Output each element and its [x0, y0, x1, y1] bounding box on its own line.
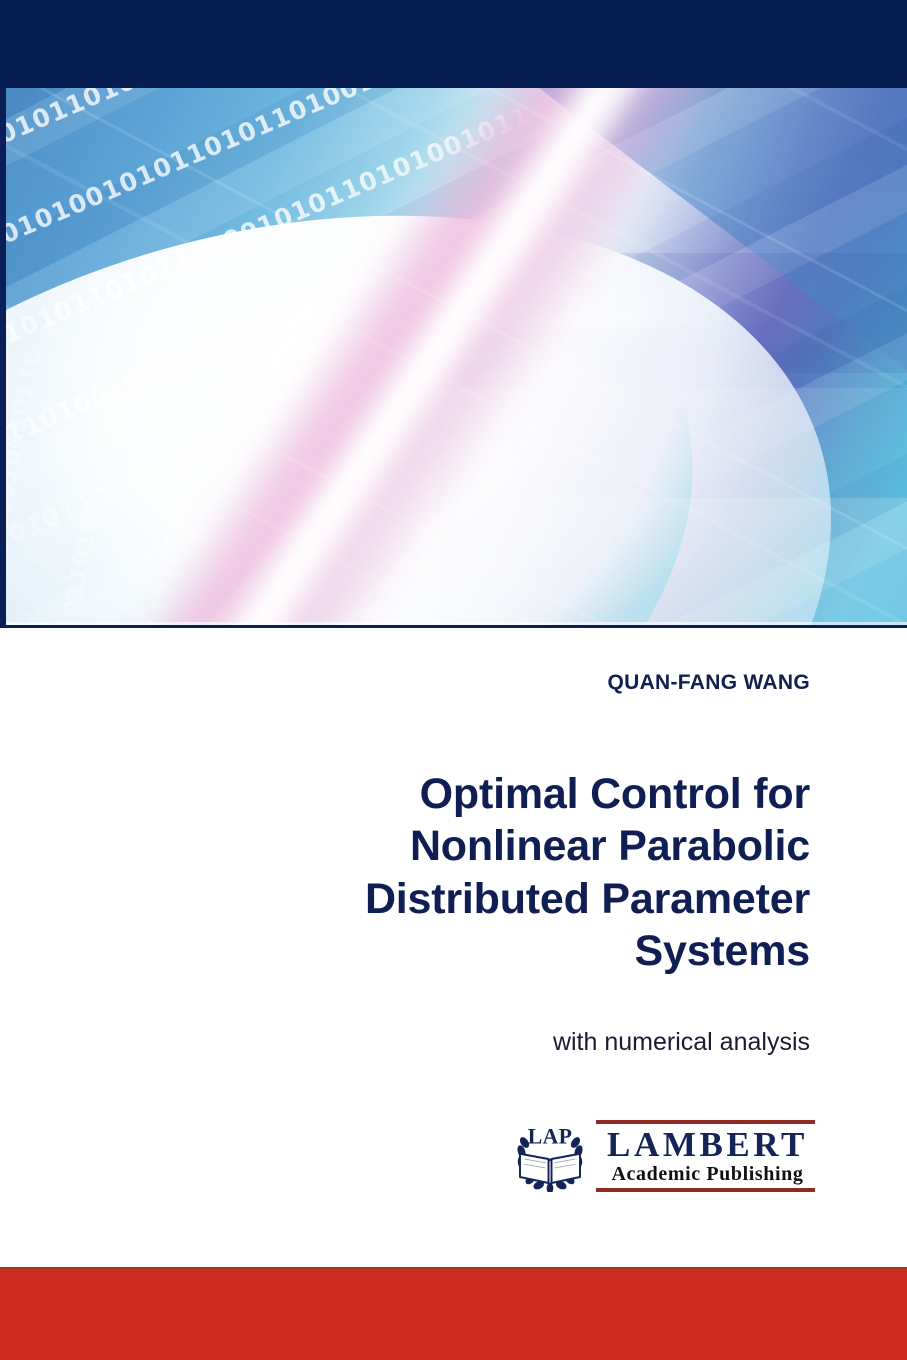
svg-text:LAP: LAP [528, 1124, 573, 1148]
publisher-name: LAMBERT [596, 1124, 815, 1163]
book-subtitle: with numerical analysis [553, 1028, 810, 1057]
book-title: Optimal Control for Nonlinear Parabolic … [190, 768, 810, 978]
publisher-wordmark: LAMBERT Academic Publishing [596, 1120, 815, 1192]
bottom-band-edge [0, 1267, 907, 1269]
title-line-3: Distributed Parameter [190, 873, 810, 925]
bottom-red-band [0, 1267, 907, 1360]
author-name: QUAN-FANG WANG [607, 671, 810, 695]
cover-text-zone: QUAN-FANG WANG Optimal Control for Nonli… [0, 628, 907, 1267]
book-cover: 0101101010001010110101001010110101101010… [0, 0, 907, 1360]
title-line-2: Nonlinear Parabolic [190, 820, 810, 872]
cover-artwork: 0101101010001010110101001010110101101010… [6, 88, 907, 625]
publisher-tagline: Academic Publishing [596, 1163, 815, 1188]
logo-rule-bottom [596, 1188, 815, 1192]
title-line-1: Optimal Control for [190, 768, 810, 820]
cover-artwork-frame: 0101101010001010110101001010110101101010… [0, 88, 907, 628]
artwork-light-streaks [6, 88, 907, 625]
title-line-4: Systems [190, 925, 810, 977]
open-book-laurel-wreath-icon: LAP [512, 1120, 588, 1192]
top-navy-band [0, 0, 907, 89]
artwork-bottom-highlight [6, 622, 907, 625]
publisher-logo: LAP LAMBERT Academic Publishing [512, 1120, 815, 1192]
